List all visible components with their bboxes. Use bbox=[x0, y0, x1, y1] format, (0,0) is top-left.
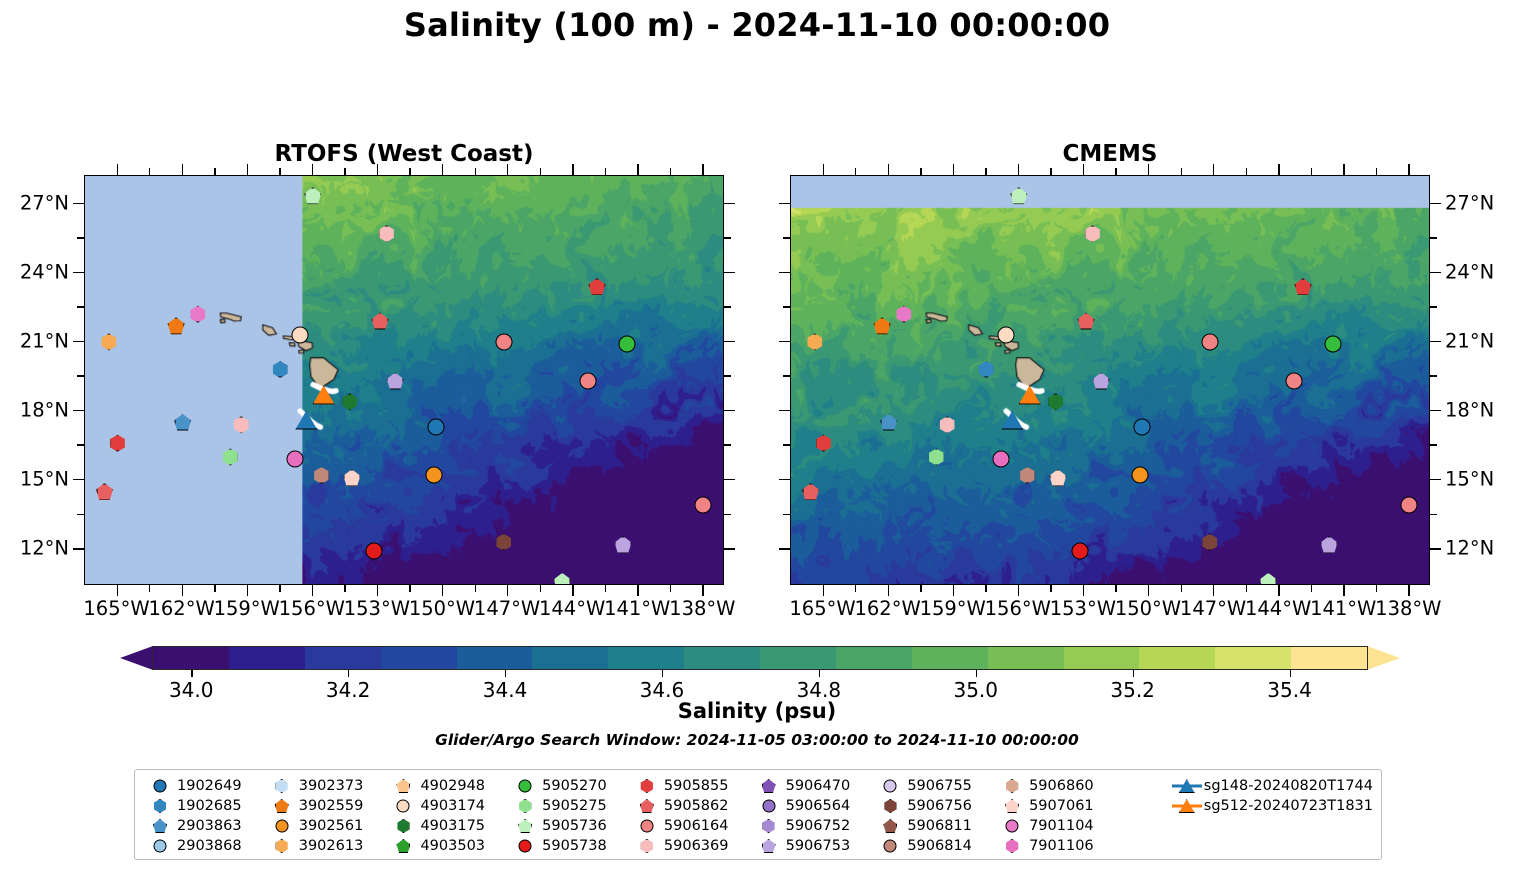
y-axis-tick bbox=[73, 203, 84, 204]
x-axis-minor-tick bbox=[920, 585, 921, 592]
legend-item-label: 5905736 bbox=[542, 818, 607, 834]
x-axis-tick bbox=[117, 585, 118, 596]
legend-item[interactable]: sg148-20240820T1744 bbox=[1172, 776, 1373, 796]
colorbar[interactable]: 34.034.234.434.634.835.035.235.4 bbox=[120, 646, 1400, 670]
x-axis-tick bbox=[823, 585, 824, 596]
colorbar-segment bbox=[381, 647, 457, 669]
argo-float-marker[interactable] bbox=[1132, 467, 1149, 484]
legend-item[interactable]: 5906860 bbox=[997, 776, 1168, 796]
x-axis-minor-tick bbox=[1311, 585, 1312, 592]
panel-title-cmems: CMEMS bbox=[790, 141, 1430, 167]
y-axis-minor-tick bbox=[77, 375, 84, 376]
colorbar-segment bbox=[760, 647, 836, 669]
legend-item[interactable]: 1902685 bbox=[145, 796, 263, 816]
legend-item-label: 5905862 bbox=[664, 798, 729, 814]
argo-float-marker[interactable] bbox=[1071, 543, 1088, 560]
legend-item[interactable]: 3902613 bbox=[267, 836, 385, 856]
argo-float-marker[interactable] bbox=[495, 333, 512, 350]
x-axis-tick bbox=[1408, 585, 1409, 596]
y-axis-tick-label: 24°N bbox=[0, 260, 69, 283]
y-axis-tick bbox=[73, 548, 84, 549]
marker-glyph bbox=[884, 840, 897, 853]
marker-glyph bbox=[518, 819, 532, 833]
y-axis-tick bbox=[1430, 410, 1441, 411]
colorbar-over-arrow bbox=[1367, 646, 1400, 670]
legend-item[interactable]: 5906369 bbox=[632, 836, 750, 856]
y-axis-minor-tick bbox=[724, 375, 731, 376]
x-axis-tick bbox=[507, 164, 508, 175]
x-axis-minor-tick bbox=[409, 168, 410, 175]
y-axis-minor-tick bbox=[783, 237, 790, 238]
argo-float-marker[interactable] bbox=[1286, 373, 1303, 390]
y-axis-minor-tick bbox=[77, 444, 84, 445]
legend-item-label: 1902649 bbox=[177, 778, 242, 794]
x-axis-minor-tick bbox=[670, 168, 671, 175]
colorbar-segment bbox=[1139, 647, 1215, 669]
colorbar-segment bbox=[684, 647, 760, 669]
argo-float-marker[interactable] bbox=[997, 326, 1014, 343]
hexagon-marker-icon bbox=[388, 817, 418, 835]
x-axis-tick bbox=[507, 585, 508, 596]
y-axis-tick-label: 15°N bbox=[0, 468, 69, 491]
x-axis-tick-label: 162°W bbox=[148, 597, 214, 620]
y-axis-minor-tick bbox=[77, 237, 84, 238]
circle-marker-icon bbox=[510, 777, 540, 795]
y-axis-minor-tick bbox=[1430, 514, 1437, 515]
pentagon-marker-icon bbox=[875, 817, 905, 835]
marker-glyph bbox=[762, 800, 775, 813]
colorbar-segment bbox=[305, 647, 381, 669]
colorbar-tick bbox=[819, 670, 820, 677]
x-axis-minor-tick bbox=[1115, 168, 1116, 175]
legend-item[interactable]: 4903503 bbox=[388, 836, 506, 856]
y-axis-tick-label: 21°N bbox=[1445, 329, 1494, 352]
argo-float-marker[interactable] bbox=[1325, 336, 1342, 353]
y-axis-tick-label: 27°N bbox=[0, 191, 69, 214]
legend-item[interactable]: 5906470 bbox=[754, 776, 872, 796]
pentagon-marker-icon bbox=[510, 817, 540, 835]
argo-float-marker[interactable] bbox=[428, 419, 445, 436]
legend-item-label: 5906564 bbox=[786, 798, 851, 814]
argo-float-marker[interactable] bbox=[580, 373, 597, 390]
legend-item-label: 5905270 bbox=[542, 778, 607, 794]
legend-item[interactable]: 3902559 bbox=[267, 796, 385, 816]
marker-glyph bbox=[640, 799, 654, 813]
y-axis-minor-tick bbox=[783, 444, 790, 445]
x-axis-tick bbox=[1213, 164, 1214, 175]
x-axis-tick-label: 141°W bbox=[1310, 597, 1376, 620]
y-axis-tick-label: 21°N bbox=[0, 329, 69, 352]
x-axis-minor-tick bbox=[605, 585, 606, 592]
hexagon-marker-icon bbox=[632, 777, 662, 795]
legend-item-label: 4903175 bbox=[420, 818, 485, 834]
pentagon-marker-icon bbox=[388, 777, 418, 795]
legend-item[interactable]: 5906164 bbox=[632, 816, 750, 836]
x-axis-tick-label: 150°W bbox=[1115, 597, 1181, 620]
pentagon-marker-icon bbox=[388, 837, 418, 855]
colorbar-segment bbox=[1291, 647, 1367, 669]
legend-item-label: 5906755 bbox=[907, 778, 972, 794]
x-axis-tick bbox=[182, 164, 183, 175]
legend-item-label: 5906814 bbox=[907, 838, 972, 854]
legend-item[interactable]: 5906814 bbox=[875, 836, 993, 856]
legend-item[interactable]: sg512-20240723T1831 bbox=[1172, 796, 1373, 816]
y-axis-minor-tick bbox=[724, 444, 731, 445]
marker-glyph bbox=[396, 819, 410, 833]
circle-marker-icon bbox=[145, 777, 175, 795]
y-axis-tick bbox=[1430, 479, 1441, 480]
y-axis-minor-tick bbox=[783, 514, 790, 515]
colorbar-tick bbox=[1133, 670, 1134, 677]
y-axis-tick-label: 12°N bbox=[0, 537, 69, 560]
legend-item[interactable]: 5905275 bbox=[510, 796, 628, 816]
x-axis-minor-tick bbox=[475, 168, 476, 175]
x-axis-minor-tick bbox=[214, 585, 215, 592]
x-axis-minor-tick bbox=[475, 585, 476, 592]
legend-item-label: 5906756 bbox=[907, 798, 972, 814]
hexagon-marker-icon bbox=[267, 837, 297, 855]
marker-glyph bbox=[1006, 820, 1019, 833]
x-axis-tick bbox=[888, 585, 889, 596]
x-axis-minor-tick bbox=[1050, 168, 1051, 175]
y-axis-tick bbox=[73, 410, 84, 411]
figure-root: Salinity (100 m) - 2024-11-10 00:00:00 R… bbox=[0, 0, 1514, 889]
y-axis-tick bbox=[724, 203, 735, 204]
argo-float-marker[interactable] bbox=[1201, 333, 1218, 350]
colorbar-tick bbox=[505, 670, 506, 677]
legend-item-label: 5905738 bbox=[542, 838, 607, 854]
legend-item-label: 7901106 bbox=[1029, 838, 1094, 854]
x-axis-minor-tick bbox=[670, 585, 671, 592]
y-axis-tick bbox=[779, 272, 790, 273]
marker-glyph bbox=[1005, 839, 1019, 853]
argo-float-marker[interactable] bbox=[1401, 497, 1418, 514]
hexagon-marker-icon bbox=[754, 817, 784, 835]
y-axis-minor-tick bbox=[1430, 444, 1437, 445]
x-axis-minor-tick bbox=[1181, 168, 1182, 175]
marker-glyph bbox=[883, 819, 897, 833]
x-axis-tick-label: 147°W bbox=[1180, 597, 1246, 620]
y-axis-tick bbox=[1430, 341, 1441, 342]
x-axis-tick bbox=[1278, 585, 1279, 596]
argo-float-marker[interactable] bbox=[291, 326, 308, 343]
x-axis-tick bbox=[1018, 585, 1019, 596]
legend-grid: 1902649190268529038632903868390237339025… bbox=[145, 776, 1373, 856]
legend-item-label: 5906369 bbox=[664, 838, 729, 854]
colorbar-segment bbox=[457, 647, 533, 669]
colorbar-segment bbox=[988, 647, 1064, 669]
pentagon-marker-icon bbox=[145, 817, 175, 835]
legend-item[interactable]: 5905738 bbox=[510, 836, 628, 856]
y-axis-tick bbox=[779, 410, 790, 411]
x-axis-tick-label: 138°W bbox=[669, 597, 735, 620]
x-axis-minor-tick bbox=[1181, 585, 1182, 592]
pentagon-marker-icon bbox=[754, 777, 784, 795]
legend-item-label: 3902613 bbox=[299, 838, 364, 854]
legend-item[interactable]: 5905736 bbox=[510, 816, 628, 836]
x-axis-tick bbox=[1148, 164, 1149, 175]
x-axis-tick bbox=[1213, 585, 1214, 596]
x-axis-tick bbox=[377, 585, 378, 596]
x-axis-minor-tick bbox=[409, 585, 410, 592]
x-axis-minor-tick bbox=[855, 585, 856, 592]
marker-glyph bbox=[396, 779, 410, 793]
y-axis-tick bbox=[724, 548, 735, 549]
pentagon-marker-icon bbox=[632, 797, 662, 815]
legend-item[interactable]: 7901106 bbox=[997, 836, 1168, 856]
x-axis-minor-tick bbox=[279, 585, 280, 592]
legend-item-label: 7901104 bbox=[1029, 818, 1094, 834]
argo-float-marker[interactable] bbox=[1134, 419, 1151, 436]
legend-item[interactable]: 5906753 bbox=[754, 836, 872, 856]
marker-glyph bbox=[640, 779, 654, 793]
marker-glyph bbox=[153, 819, 167, 833]
x-axis-minor-tick bbox=[605, 168, 606, 175]
legend-item[interactable]: 5905270 bbox=[510, 776, 628, 796]
legend-item[interactable]: 3902373 bbox=[267, 776, 385, 796]
panel-title-rtofs: RTOFS (West Coast) bbox=[84, 141, 724, 167]
y-axis-minor-tick bbox=[724, 306, 731, 307]
legend-item[interactable]: 5906811 bbox=[875, 816, 993, 836]
legend-item[interactable]: 5905855 bbox=[632, 776, 750, 796]
x-axis-tick bbox=[637, 585, 638, 596]
marker-glyph bbox=[275, 820, 288, 833]
x-axis-tick-label: 138°W bbox=[1375, 597, 1441, 620]
y-axis-minor-tick bbox=[724, 514, 731, 515]
x-axis-tick bbox=[953, 164, 954, 175]
y-axis-minor-tick bbox=[1430, 306, 1437, 307]
legend-item-label: 5906752 bbox=[786, 818, 851, 834]
marker-glyph bbox=[275, 799, 289, 813]
circle-marker-icon bbox=[510, 837, 540, 855]
y-axis-tick-label: 24°N bbox=[1445, 260, 1494, 283]
y-axis-tick bbox=[779, 341, 790, 342]
x-axis-tick bbox=[1408, 164, 1409, 175]
x-axis-tick bbox=[823, 164, 824, 175]
legend-item[interactable]: 5906755 bbox=[875, 776, 993, 796]
x-axis-tick-label: 156°W bbox=[985, 597, 1051, 620]
x-axis-tick-label: 159°W bbox=[214, 597, 280, 620]
x-axis-minor-tick bbox=[1115, 585, 1116, 592]
legend-item-label: 5906164 bbox=[664, 818, 729, 834]
legend-item-label: 4903503 bbox=[420, 838, 485, 854]
y-axis-minor-tick bbox=[77, 306, 84, 307]
marker-glyph bbox=[762, 779, 776, 793]
marker-glyph bbox=[518, 799, 532, 813]
legend-item-label: 5906860 bbox=[1029, 778, 1094, 794]
y-axis-minor-tick bbox=[783, 306, 790, 307]
x-axis-minor-tick bbox=[540, 585, 541, 592]
legend-item-label: 4903174 bbox=[420, 798, 485, 814]
y-axis-tick bbox=[73, 272, 84, 273]
circle-marker-icon bbox=[145, 837, 175, 855]
legend-item[interactable]: 2903863 bbox=[145, 816, 263, 836]
x-axis-tick bbox=[637, 164, 638, 175]
x-axis-tick-label: 162°W bbox=[854, 597, 920, 620]
colorbar-tick bbox=[1290, 670, 1291, 677]
legend-item[interactable]: 5906756 bbox=[875, 796, 993, 816]
y-axis-tick bbox=[1430, 548, 1441, 549]
x-axis-tick-label: 147°W bbox=[474, 597, 540, 620]
x-axis-minor-tick bbox=[1246, 585, 1247, 592]
legend-item-label: 5905275 bbox=[542, 798, 607, 814]
y-axis-tick bbox=[1430, 203, 1441, 204]
x-axis-tick bbox=[702, 585, 703, 596]
legend-item[interactable]: 5906752 bbox=[754, 816, 872, 836]
colorbar-segment bbox=[608, 647, 684, 669]
triangle-marker-icon bbox=[1172, 777, 1202, 795]
colorbar-segment bbox=[912, 647, 988, 669]
marker-glyph bbox=[640, 820, 653, 833]
legend-item[interactable]: 4903174 bbox=[388, 796, 506, 816]
colorbar-under-arrow bbox=[120, 646, 153, 670]
x-axis-minor-tick bbox=[1376, 168, 1377, 175]
legend-item-label: 5906753 bbox=[786, 838, 851, 854]
x-axis-tick bbox=[953, 585, 954, 596]
legend-item[interactable]: 5906564 bbox=[754, 796, 872, 816]
y-axis-minor-tick bbox=[783, 375, 790, 376]
colorbar-segment bbox=[1215, 647, 1291, 669]
legend-item-label: 5905855 bbox=[664, 778, 729, 794]
x-axis-tick-label: 150°W bbox=[409, 597, 475, 620]
y-axis-tick bbox=[73, 479, 84, 480]
marker-glyph bbox=[153, 799, 167, 813]
argo-float-marker[interactable] bbox=[695, 497, 712, 514]
colorbar-tick bbox=[348, 670, 349, 677]
pentagon-marker-icon bbox=[267, 797, 297, 815]
map-panel-rtofs[interactable] bbox=[84, 175, 724, 585]
x-axis-minor-tick bbox=[149, 585, 150, 592]
marker-glyph bbox=[640, 839, 654, 853]
x-axis-minor-tick bbox=[920, 168, 921, 175]
y-axis-minor-tick bbox=[77, 514, 84, 515]
hexagon-marker-icon bbox=[997, 777, 1027, 795]
x-axis-minor-tick bbox=[149, 168, 150, 175]
hexagon-marker-icon bbox=[875, 797, 905, 815]
x-axis-minor-tick bbox=[1311, 168, 1312, 175]
y-axis-tick bbox=[779, 203, 790, 204]
y-axis-tick-label: 18°N bbox=[1445, 398, 1494, 421]
legend-item-label: sg148-20240820T1744 bbox=[1204, 778, 1373, 794]
hexagon-marker-icon bbox=[997, 837, 1027, 855]
legend-item[interactable]: 4902948 bbox=[388, 776, 506, 796]
colorbar-segment bbox=[153, 647, 229, 669]
colorbar-tick bbox=[976, 670, 977, 677]
x-axis-tick bbox=[442, 585, 443, 596]
x-axis-tick bbox=[247, 164, 248, 175]
legend-item[interactable]: 2903868 bbox=[145, 836, 263, 856]
y-axis-tick-label: 18°N bbox=[0, 398, 69, 421]
argo-float-marker[interactable] bbox=[426, 467, 443, 484]
x-axis-tick bbox=[247, 585, 248, 596]
legend-item-label: 3902561 bbox=[299, 818, 364, 834]
x-axis-tick-label: 144°W bbox=[1245, 597, 1311, 620]
y-axis-tick bbox=[1430, 272, 1441, 273]
salinity-field-cmems bbox=[791, 176, 1429, 584]
x-axis-minor-tick bbox=[985, 168, 986, 175]
x-axis-minor-tick bbox=[540, 168, 541, 175]
legend-item-label: 5907061 bbox=[1029, 798, 1094, 814]
x-axis-minor-tick bbox=[344, 585, 345, 592]
colorbar-segment bbox=[836, 647, 912, 669]
x-axis-minor-tick bbox=[279, 168, 280, 175]
argo-float-marker[interactable] bbox=[287, 451, 304, 468]
legend-item[interactable]: 4903175 bbox=[388, 816, 506, 836]
marker-glyph bbox=[275, 839, 289, 853]
x-axis-tick-label: 165°W bbox=[789, 597, 855, 620]
colorbar-segment bbox=[532, 647, 608, 669]
hexagon-marker-icon bbox=[632, 837, 662, 855]
marker-glyph bbox=[397, 800, 410, 813]
marker-glyph bbox=[396, 839, 410, 853]
x-axis-tick bbox=[1083, 164, 1084, 175]
legend-item-label: sg512-20240723T1831 bbox=[1204, 798, 1373, 814]
legend-item[interactable]: 3902561 bbox=[267, 816, 385, 836]
map-panel-cmems[interactable] bbox=[790, 175, 1430, 585]
y-axis-tick bbox=[724, 272, 735, 273]
x-axis-minor-tick bbox=[214, 168, 215, 175]
marker-glyph bbox=[154, 840, 167, 853]
hexagon-marker-icon bbox=[145, 797, 175, 815]
x-axis-tick bbox=[888, 164, 889, 175]
colorbar-segment bbox=[1064, 647, 1140, 669]
legend-item[interactable]: 7901104 bbox=[997, 816, 1168, 836]
y-axis-tick bbox=[724, 341, 735, 342]
y-axis-minor-tick bbox=[724, 237, 731, 238]
y-axis-tick bbox=[779, 479, 790, 480]
argo-float-marker[interactable] bbox=[993, 451, 1010, 468]
page-title: Salinity (100 m) - 2024-11-10 00:00:00 bbox=[0, 6, 1514, 44]
legend-item-label: 2903863 bbox=[177, 818, 242, 834]
x-axis-tick bbox=[1343, 164, 1344, 175]
x-axis-tick bbox=[377, 164, 378, 175]
legend-item-label: 4902948 bbox=[420, 778, 485, 794]
x-axis-tick bbox=[312, 585, 313, 596]
x-axis-tick bbox=[442, 164, 443, 175]
y-axis-minor-tick bbox=[1430, 375, 1437, 376]
circle-marker-icon bbox=[875, 777, 905, 795]
y-axis-minor-tick bbox=[1430, 237, 1437, 238]
pentagon-marker-icon bbox=[754, 837, 784, 855]
x-axis-minor-tick bbox=[855, 168, 856, 175]
argo-float-marker[interactable] bbox=[619, 336, 636, 353]
x-axis-minor-tick bbox=[1050, 585, 1051, 592]
colorbar-tick bbox=[662, 670, 663, 677]
x-axis-tick bbox=[117, 164, 118, 175]
legend-item[interactable]: 5905862 bbox=[632, 796, 750, 816]
x-axis-tick bbox=[312, 164, 313, 175]
marker-glyph bbox=[1005, 799, 1019, 813]
legend-item[interactable]: 5907061 bbox=[997, 796, 1168, 816]
y-axis-tick bbox=[779, 548, 790, 549]
legend-item[interactable]: 1902649 bbox=[145, 776, 263, 796]
x-axis-tick bbox=[182, 585, 183, 596]
legend-item-label: 3902559 bbox=[299, 798, 364, 814]
x-axis-tick bbox=[572, 585, 573, 596]
marker-glyph bbox=[154, 780, 167, 793]
legend[interactable]: 1902649190268529038632903868390237339025… bbox=[134, 769, 1382, 860]
x-axis-minor-tick bbox=[1376, 585, 1377, 592]
search-window-caption: Glider/Argo Search Window: 2024-11-05 03… bbox=[0, 731, 1514, 749]
argo-float-marker[interactable] bbox=[365, 543, 382, 560]
legend-item-label: 3902373 bbox=[299, 778, 364, 794]
marker-glyph bbox=[1005, 779, 1019, 793]
x-axis-tick bbox=[1148, 585, 1149, 596]
x-axis-tick bbox=[1083, 585, 1084, 596]
y-axis-tick-label: 15°N bbox=[1445, 468, 1494, 491]
x-axis-tick bbox=[1343, 585, 1344, 596]
marker-glyph bbox=[519, 840, 532, 853]
